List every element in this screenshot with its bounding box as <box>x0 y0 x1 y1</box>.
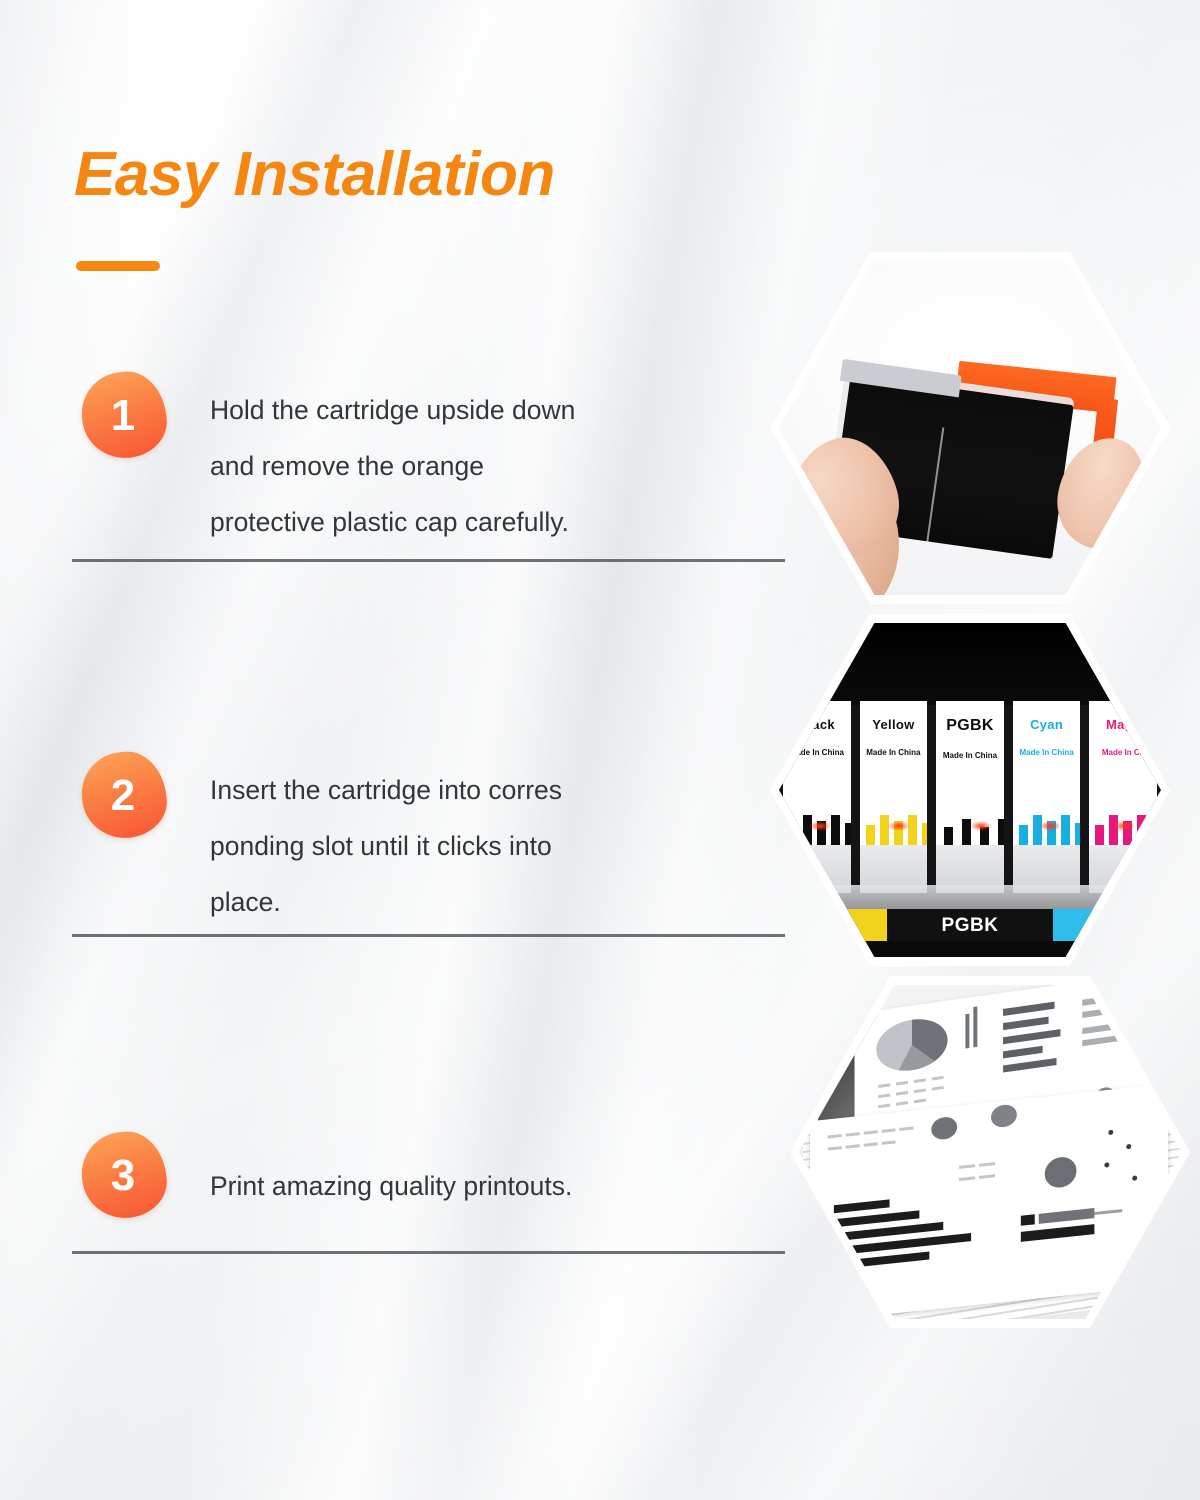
cartridge-label-pgbk: PGBK <box>946 717 993 735</box>
cartridge-origin-black: Made In China <box>790 748 844 757</box>
cartridge-slot-magenta: Mage Made In Ch <box>1089 701 1157 893</box>
cartridge-origin-pgbk: Made In China <box>943 751 997 760</box>
step-2-number: 2 <box>82 752 166 838</box>
cartridge-slot-pgbk: PGBK Made In China <box>936 701 1004 893</box>
photo-remove-orange-cap <box>779 261 1161 595</box>
slot-tab-y: Y <box>779 909 887 943</box>
cartridge-slot-row: Black Made In China Yellow <box>779 701 1161 893</box>
photo-cartridges-in-printer: Black Made In China Yellow <box>779 623 1161 957</box>
title-accent-bar <box>76 261 160 271</box>
printer-base-edge <box>779 941 1161 957</box>
photo-hexagon-remove-cap <box>770 252 1170 604</box>
cartridge-label-black: Black <box>799 717 835 732</box>
photo-hexagon-insert-cartridge: Black Made In China Yellow <box>770 614 1170 966</box>
cartridge-label-yellow: Yellow <box>872 717 914 732</box>
cartridge-origin-magenta: Made In Ch <box>1102 748 1145 757</box>
cartridge-label-magenta: Mage <box>1106 717 1140 732</box>
step-1-text: Hold the cartridge upside down and remov… <box>210 382 730 550</box>
cartridge-slot-cyan: Cyan Made In China <box>1013 701 1081 893</box>
step-3-badge: 3 <box>78 1128 171 1222</box>
slot-tab-c: C <box>1053 909 1161 943</box>
divider-3 <box>72 1251 785 1254</box>
cartridge-slot-yellow: Yellow Made In China <box>860 701 928 893</box>
slot-tab-pgbk: PGBK <box>887 909 1053 943</box>
step-2-badge: 2 <box>78 748 171 842</box>
slot-color-tab-bar: Y PGBK C <box>779 909 1161 943</box>
cartridge-label-cyan: Cyan <box>1030 717 1063 732</box>
cartridge-slot-black: Black Made In China <box>783 701 851 893</box>
photo-printed-document-stack <box>799 985 1181 1319</box>
divider-2 <box>72 934 785 937</box>
printed-page-front <box>810 1084 1168 1319</box>
page-title: Easy Installation <box>74 139 555 210</box>
step-1-badge: 1 <box>78 368 171 462</box>
pie-chart-graphic <box>876 1015 947 1076</box>
easy-installation-page: Easy Installation 1 Hold the cartridge u… <box>0 0 1200 1500</box>
step-3-number: 3 <box>82 1132 166 1218</box>
step-1-number: 1 <box>82 372 166 458</box>
cartridge-origin-cyan: Made In China <box>1019 748 1073 757</box>
cartridge-origin-yellow: Made In China <box>866 748 920 757</box>
photo-hexagon-printed-pages <box>790 976 1190 1328</box>
step-3-text: Print amazing quality printouts. <box>210 1158 730 1214</box>
printer-top-shroud <box>779 623 1161 705</box>
step-2-text: Insert the cartridge into corres ponding… <box>210 762 730 930</box>
divider-1 <box>72 559 785 562</box>
